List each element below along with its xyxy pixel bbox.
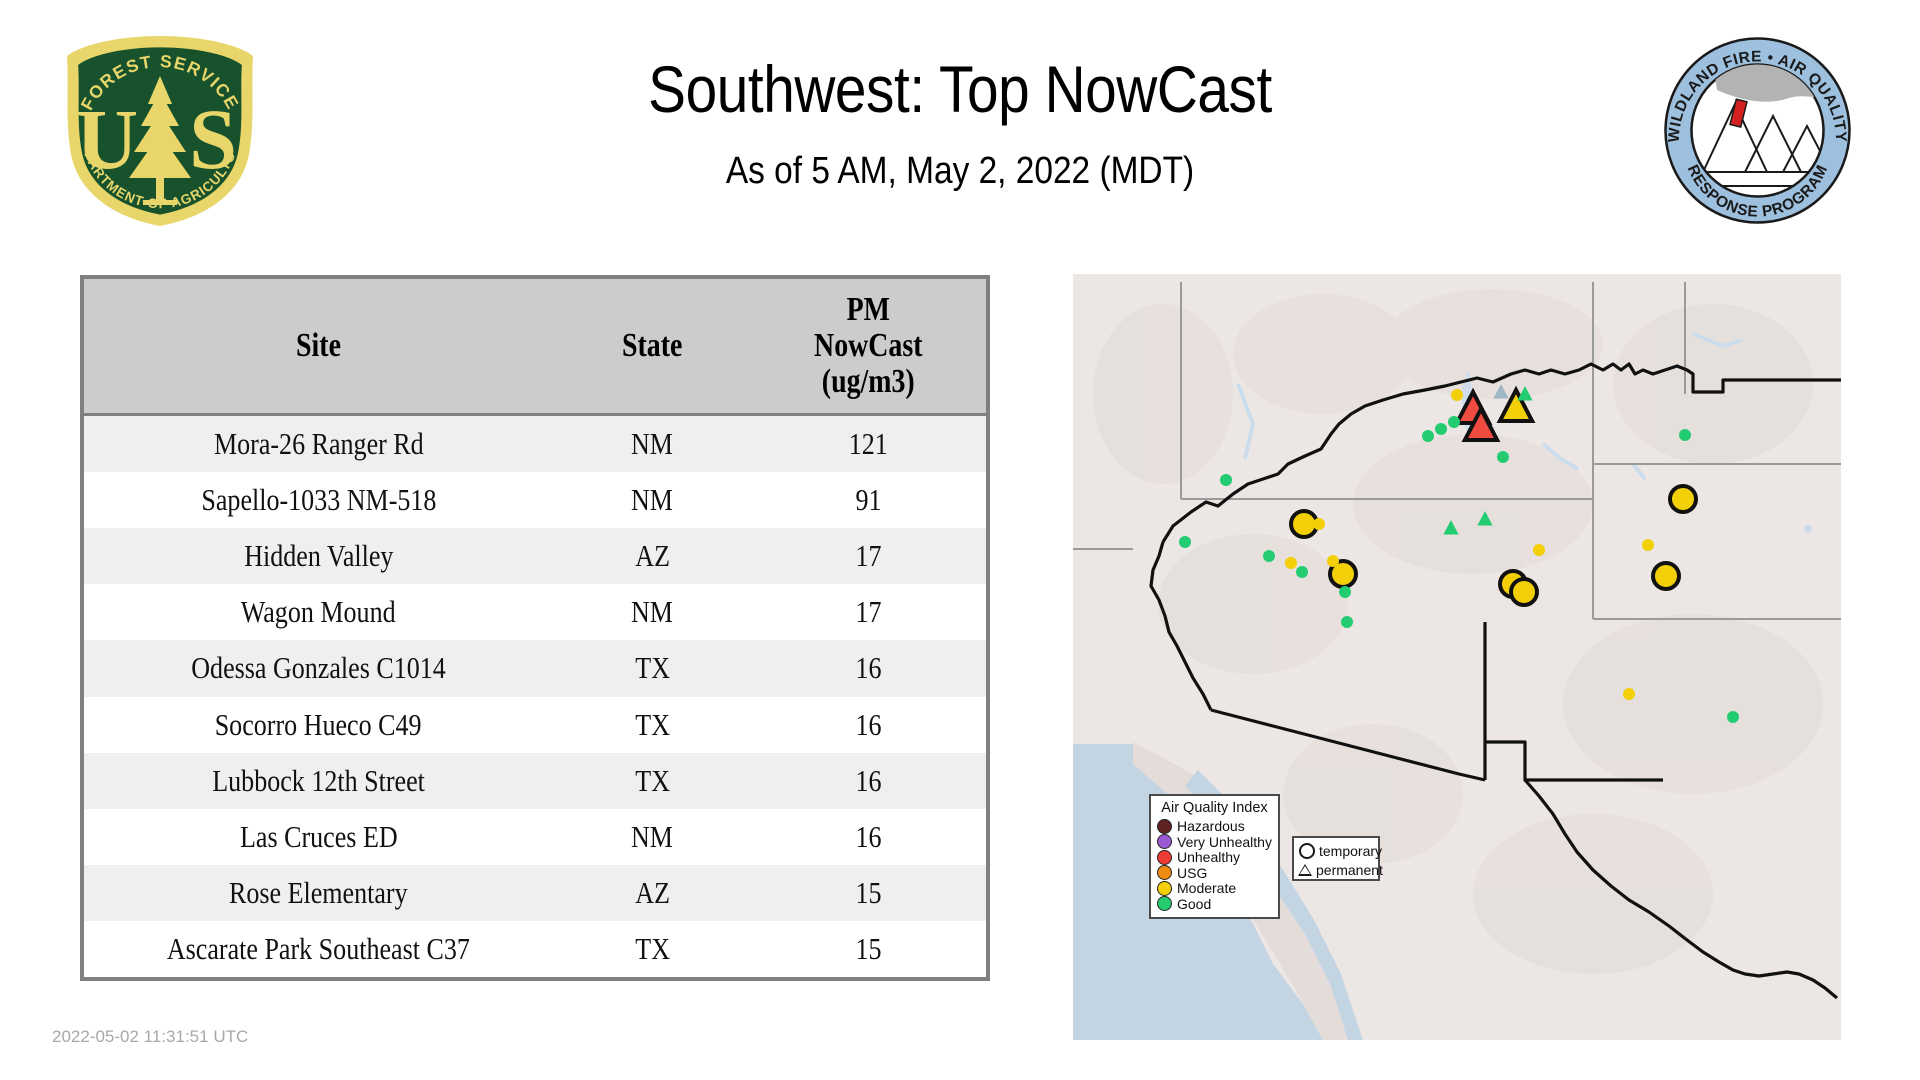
table-cell-pm: 121 [751, 415, 986, 473]
aqi-legend-item: Hazardous [1157, 818, 1272, 834]
table-cell-pm-text: 15 [856, 875, 882, 911]
table-cell-state-text: AZ [635, 875, 670, 911]
map-marker-circle[interactable] [1179, 536, 1191, 548]
table-row[interactable]: Wagon MoundNM17 [84, 584, 986, 640]
table-cell-pm: 16 [751, 809, 986, 865]
table-cell-state: NM [553, 415, 751, 473]
table-cell-pm: 16 [751, 753, 986, 809]
table-cell-site: Socorro Hueco C49 [84, 697, 553, 753]
page-title: Southwest: Top NowCast [478, 55, 1441, 124]
aqi-color-swatch-icon [1157, 850, 1172, 865]
map-marker-circle[interactable] [1220, 474, 1232, 486]
aqi-legend-item: Unhealthy [1157, 849, 1272, 865]
title-block: Southwest: Top NowCast As of 5 AM, May 2… [400, 55, 1520, 193]
table-cell-state: NM [553, 472, 751, 528]
table-cell-pm-text: 16 [856, 763, 882, 799]
table-header-row: Site State PM NowCast (ug/m3) [84, 279, 986, 415]
map-marker-circle[interactable] [1623, 688, 1635, 700]
map-marker-circle[interactable] [1451, 389, 1463, 401]
table-cell-state-text: NM [631, 482, 673, 518]
map-marker-circle[interactable] [1448, 416, 1460, 428]
table-cell-pm: 17 [751, 528, 986, 584]
page-header: U S FOREST SERVICE DEPARTMENT OF AGRICUL… [0, 0, 1920, 270]
map-marker-circle[interactable] [1285, 557, 1297, 569]
map-marker-circle[interactable] [1511, 579, 1537, 605]
map-marker-circle[interactable] [1653, 563, 1679, 589]
generated-timestamp: 2022-05-02 11:31:51 UTC [52, 1027, 248, 1047]
table-body: Mora-26 Ranger RdNM121Sapello-1033 NM-51… [84, 415, 986, 978]
table-cell-site-text: Socorro Hueco C49 [215, 707, 422, 743]
aqi-legend-label: Moderate [1177, 881, 1236, 895]
table-cell-state: AZ [553, 528, 751, 584]
map-marker-circle[interactable] [1313, 518, 1325, 530]
map-marker-circle[interactable] [1296, 566, 1308, 578]
table-row[interactable]: Sapello-1033 NM-518NM91 [84, 472, 986, 528]
table-cell-pm-text: 91 [856, 482, 882, 518]
map-marker-circle[interactable] [1727, 711, 1739, 723]
table-cell-pm-text: 16 [856, 650, 882, 686]
table-row[interactable]: Socorro Hueco C49TX16 [84, 697, 986, 753]
table-cell-state: NM [553, 809, 751, 865]
permanent-triangle-icon [1298, 864, 1312, 876]
table-cell-state-text: AZ [635, 538, 670, 574]
aqi-legend-label: USG [1177, 866, 1207, 880]
table-cell-site: Hidden Valley [84, 528, 553, 584]
table-row[interactable]: Las Cruces EDNM16 [84, 809, 986, 865]
top-nowcast-table: Site State PM NowCast (ug/m3) Mora-26 Ra… [84, 279, 986, 977]
table-cell-site-text: Sapello-1033 NM-518 [201, 482, 436, 518]
table-cell-site: Sapello-1033 NM-518 [84, 472, 553, 528]
table-cell-state-text: TX [635, 650, 670, 686]
table-row[interactable]: Odessa Gonzales C1014TX16 [84, 640, 986, 696]
aqi-color-swatch-icon [1157, 896, 1172, 911]
table-cell-site-text: Wagon Mound [241, 594, 396, 630]
aqi-legend-item: Moderate [1157, 880, 1272, 896]
aqi-color-swatch-icon [1157, 865, 1172, 880]
aqi-legend-item: Very Unhealthy [1157, 834, 1272, 850]
table-cell-pm-text: 15 [856, 931, 882, 967]
forest-service-shield-logo: U S FOREST SERVICE DEPARTMENT OF AGRICUL… [55, 30, 265, 230]
header-state-line-1: State [571, 328, 734, 364]
map-marker-circle[interactable] [1435, 423, 1447, 435]
top-nowcast-table-container: Site State PM NowCast (ug/m3) Mora-26 Ra… [80, 275, 990, 981]
header-pm-line-1: PM [773, 292, 965, 328]
table-row[interactable]: Lubbock 12th StreetTX16 [84, 753, 986, 809]
table-cell-site-text: Mora-26 Ranger Rd [214, 426, 424, 462]
table-row[interactable]: Hidden ValleyAZ17 [84, 528, 986, 584]
map-marker-circle[interactable] [1670, 486, 1696, 512]
table-cell-state: TX [553, 640, 751, 696]
table-cell-state-text: TX [635, 707, 670, 743]
table-cell-pm-text: 17 [856, 594, 882, 630]
aqi-color-swatch-icon [1157, 881, 1172, 896]
table-cell-pm-text: 121 [849, 426, 888, 462]
symbol-legend-row-temporary: temporary [1298, 841, 1374, 860]
table-cell-state: AZ [553, 865, 751, 921]
temporary-circle-icon [1299, 843, 1315, 859]
map-marker-circle[interactable] [1422, 430, 1434, 442]
table-cell-site-text: Hidden Valley [244, 538, 393, 574]
map-canvas [1073, 274, 1841, 1040]
aqi-color-swatch-icon [1157, 819, 1172, 834]
aqi-legend-label: Very Unhealthy [1177, 835, 1272, 849]
page-subtitle: As of 5 AM, May 2, 2022 (MDT) [467, 150, 1453, 193]
header-pm-line-3: (ug/m3) [773, 364, 965, 400]
table-cell-state: TX [553, 697, 751, 753]
aqi-legend-label: Good [1177, 897, 1211, 911]
map-marker-circle[interactable] [1533, 544, 1545, 556]
table-cell-state: TX [553, 753, 751, 809]
table-cell-state-text: TX [635, 763, 670, 799]
symbol-legend-row-permanent: permanent [1298, 860, 1374, 879]
table-header: Site State PM NowCast (ug/m3) [84, 279, 986, 415]
southwest-air-quality-map[interactable]: Air Quality Index HazardousVery Unhealth… [1073, 274, 1841, 1040]
table-cell-pm-text: 16 [856, 819, 882, 855]
aqi-legend-title: Air Quality Index [1157, 800, 1272, 817]
table-cell-site: Lubbock 12th Street [84, 753, 553, 809]
table-cell-site-text: Lubbock 12th Street [212, 763, 425, 799]
permanent-label: permanent [1316, 862, 1383, 878]
aqi-legend-label: Hazardous [1177, 819, 1245, 833]
map-marker-circle[interactable] [1642, 539, 1654, 551]
aqi-legend-item: Good [1157, 896, 1272, 912]
table-cell-site: Rose Elementary [84, 865, 553, 921]
table-cell-state: TX [553, 921, 751, 977]
table-cell-site: Ascarate Park Southeast C37 [84, 921, 553, 977]
temporary-label: temporary [1319, 843, 1382, 859]
table-cell-site-text: Odessa Gonzales C1014 [191, 650, 446, 686]
aqi-color-swatch-icon [1157, 834, 1172, 849]
table-cell-pm: 15 [751, 921, 986, 977]
table-row[interactable]: Mora-26 Ranger RdNM121 [84, 415, 986, 473]
table-cell-pm: 15 [751, 865, 986, 921]
table-cell-state: NM [553, 584, 751, 640]
table-row[interactable]: Rose ElementaryAZ15 [84, 865, 986, 921]
map-marker-circle[interactable] [1263, 550, 1275, 562]
table-cell-site: Las Cruces ED [84, 809, 553, 865]
map-marker-circle[interactable] [1339, 586, 1351, 598]
table-cell-site-text: Ascarate Park Southeast C37 [167, 931, 470, 967]
table-cell-site: Odessa Gonzales C1014 [84, 640, 553, 696]
table-cell-pm: 91 [751, 472, 986, 528]
column-header-state[interactable]: State [553, 279, 751, 415]
table-cell-site-text: Rose Elementary [229, 875, 408, 911]
column-header-pm-nowcast[interactable]: PM NowCast (ug/m3) [751, 279, 986, 415]
map-marker-circle[interactable] [1679, 429, 1691, 441]
table-cell-pm-text: 16 [856, 707, 882, 743]
table-cell-state-text: NM [631, 594, 673, 630]
table-cell-pm: 17 [751, 584, 986, 640]
symbol-legend: temporary permanent [1292, 836, 1380, 881]
column-header-site[interactable]: Site [84, 279, 553, 415]
table-cell-pm: 16 [751, 697, 986, 753]
table-cell-state-text: TX [635, 931, 670, 967]
aqi-legend: Air Quality Index HazardousVery Unhealth… [1149, 794, 1280, 919]
wfaqrp-seal-logo: WILDLAND FIRE • AIR QUALITY RESPONSE PRO… [1655, 28, 1860, 233]
map-marker-circle[interactable] [1341, 616, 1353, 628]
aqi-legend-item: USG [1157, 865, 1272, 881]
map-marker-circle[interactable] [1497, 451, 1509, 463]
map-marker-circle[interactable] [1327, 555, 1339, 567]
table-cell-site: Mora-26 Ranger Rd [84, 415, 553, 473]
table-cell-pm-text: 17 [856, 538, 882, 574]
table-cell-pm: 16 [751, 640, 986, 696]
table-cell-state-text: NM [631, 426, 673, 462]
aqi-legend-label: Unhealthy [1177, 850, 1240, 864]
table-cell-site-text: Las Cruces ED [240, 819, 398, 855]
aqi-legend-rows: HazardousVery UnhealthyUnhealthyUSGModer… [1157, 818, 1272, 911]
table-row[interactable]: Ascarate Park Southeast C37TX15 [84, 921, 986, 977]
header-pm-line-2: NowCast [773, 328, 965, 364]
table-cell-site: Wagon Mound [84, 584, 553, 640]
table-cell-state-text: NM [631, 819, 673, 855]
header-site-line-1: Site [126, 328, 511, 364]
